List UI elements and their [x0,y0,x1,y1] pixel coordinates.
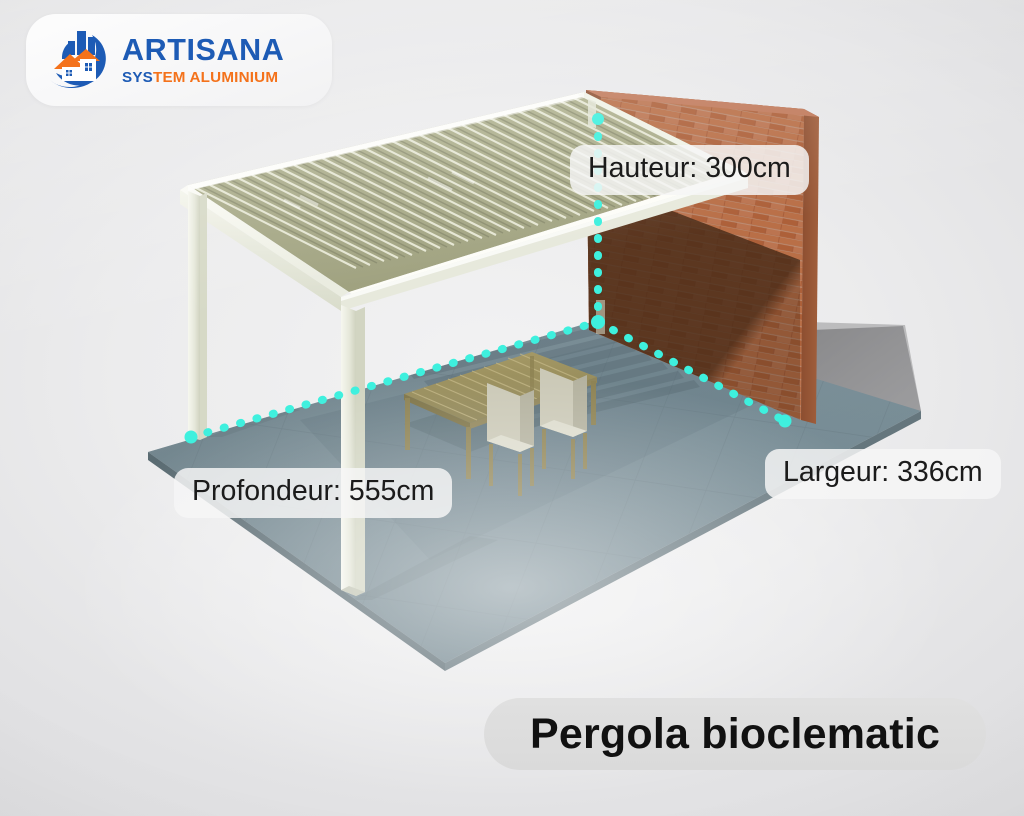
building-house-circle-icon [42,25,116,95]
brand-subtitle-orange: TEM ALUMINIUM [153,69,278,86]
post-rear-left [188,191,207,440]
brand-wordmark: ARTISANA SYSTEM ALUMINIUM [122,35,284,85]
pergola-3d-scene [0,0,1024,816]
brand-name: ARTISANA [122,35,284,66]
brand-subtitle: SYSTEM ALUMINIUM [122,70,284,85]
product-title: Pergola bioclematic [530,710,940,759]
dimension-label-height: Hauteur: 300cm [570,145,809,195]
product-title-pill: Pergola bioclematic [484,698,986,770]
post-front-left [341,305,365,596]
dimension-label-width: Largeur: 336cm [765,449,1001,499]
brand-logo-badge[interactable]: ARTISANA SYSTEM ALUMINIUM [26,14,332,106]
product-render-canvas: ARTISANA SYSTEM ALUMINIUM Hauteur: 300cm… [0,0,1024,816]
brand-subtitle-blue: SYS [122,69,153,86]
dimension-label-depth: Profondeur: 555cm [174,468,452,518]
